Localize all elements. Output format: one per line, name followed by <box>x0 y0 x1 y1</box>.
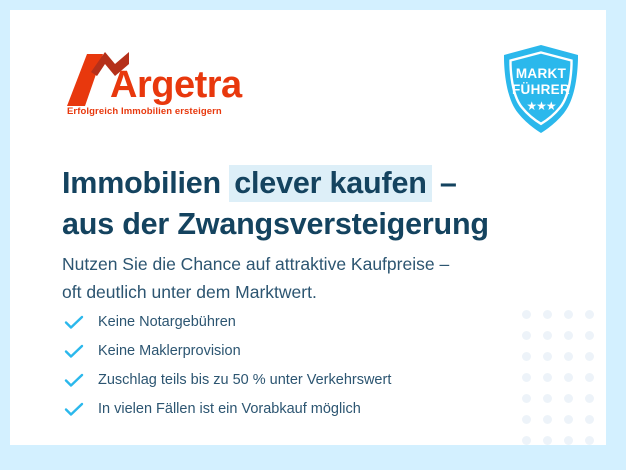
decorative-dot <box>585 415 594 424</box>
decorative-dot <box>585 331 594 340</box>
decorative-dot <box>564 373 573 382</box>
list-item-label: Zuschlag teils bis zu 50 % unter Verkehr… <box>98 373 391 388</box>
decorative-dot <box>585 373 594 382</box>
list-item: Zuschlag teils bis zu 50 % unter Verkehr… <box>64 366 524 395</box>
headline: Immobilien clever kaufen – aus der Zwang… <box>62 163 532 244</box>
subheading-line-2: oft deutlich unter dem Marktwert. <box>62 278 542 306</box>
list-item: Keine Notargebühren <box>64 308 524 337</box>
decorative-dot <box>585 436 594 445</box>
decorative-dot <box>543 394 552 403</box>
subheading-line-1: Nutzen Sie die Chance auf attraktive Kau… <box>62 250 542 278</box>
list-item-label: Keine Maklerprovision <box>98 344 241 359</box>
argetra-logo[interactable]: Argetra Erfolgreich Immobilien ersteiger… <box>65 50 265 120</box>
decorative-dot <box>564 352 573 361</box>
decorative-dot <box>543 331 552 340</box>
decorative-dot <box>585 352 594 361</box>
decorative-dot <box>543 415 552 424</box>
logo-wordmark: Argetra <box>110 66 242 104</box>
decorative-dot <box>585 394 594 403</box>
check-icon <box>64 314 88 332</box>
check-icon <box>64 372 88 390</box>
headline-line-1: Immobilien clever kaufen – <box>62 163 532 203</box>
decorative-dot <box>543 436 552 445</box>
decorative-dot <box>564 415 573 424</box>
headline-highlight: clever kaufen <box>229 165 431 202</box>
check-icon <box>64 343 88 361</box>
market-leader-badge: MARKT FÜHRER ★★★ <box>498 43 584 135</box>
subheading: Nutzen Sie die Chance auf attraktive Kau… <box>62 250 542 307</box>
list-item-label: Keine Notargebühren <box>98 315 236 330</box>
decorative-dot <box>543 352 552 361</box>
decorative-dot <box>522 436 531 445</box>
decorative-dot <box>564 436 573 445</box>
headline-text-after: – <box>432 166 457 200</box>
list-item: Keine Maklerprovision <box>64 337 524 366</box>
decorative-dot <box>564 394 573 403</box>
banner-card: Argetra Erfolgreich Immobilien ersteiger… <box>10 10 606 445</box>
logo-tagline: Erfolgreich Immobilien ersteigern <box>67 106 222 117</box>
decorative-dot <box>543 310 552 319</box>
check-icon <box>64 401 88 419</box>
dot-grid-decoration <box>522 310 606 445</box>
decorative-dot <box>543 373 552 382</box>
list-item: In vielen Fällen ist ein Vorabkauf mögli… <box>64 395 524 424</box>
decorative-dot <box>564 310 573 319</box>
decorative-dot <box>585 310 594 319</box>
headline-line-2: aus der Zwangsversteigerung <box>62 204 532 244</box>
decorative-dot <box>564 331 573 340</box>
promo-banner: Argetra Erfolgreich Immobilien ersteiger… <box>0 0 626 470</box>
list-item-label: In vielen Fällen ist ein Vorabkauf mögli… <box>98 402 361 417</box>
benefits-list: Keine Notargebühren Keine Maklerprovisio… <box>64 308 524 424</box>
headline-text-before: Immobilien <box>62 166 229 200</box>
shield-badge-icon <box>498 43 584 135</box>
